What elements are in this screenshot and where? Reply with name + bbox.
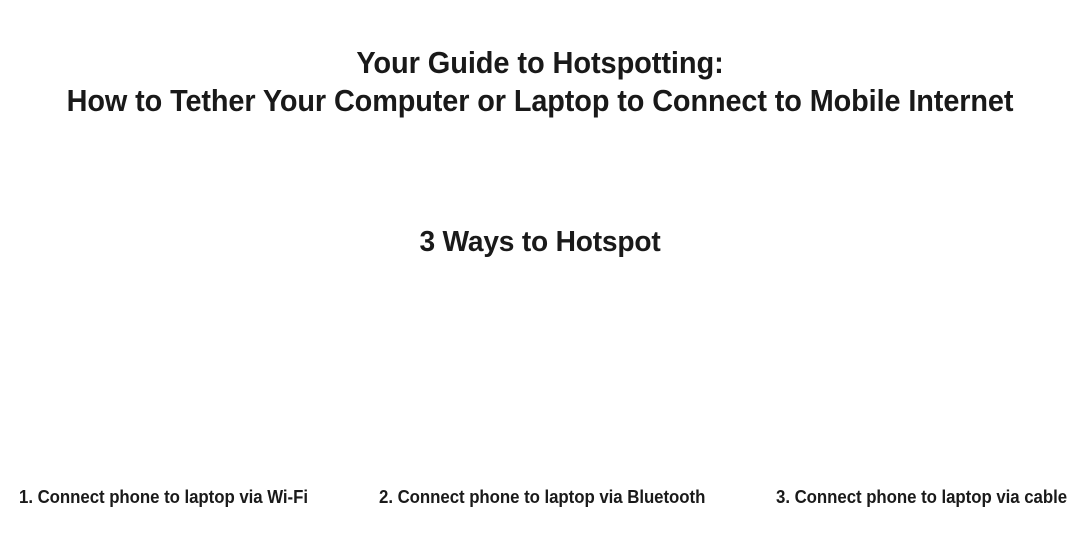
steps-media-row [0, 280, 1080, 480]
step-image-3 [720, 280, 1080, 480]
step-media-1 [0, 280, 360, 480]
page-title-line-1: Your Guide to Hotspotting: [35, 44, 1045, 82]
article-page: Your Guide to Hotspotting: How to Tether… [0, 0, 1080, 552]
step-caption-2: 2. Connect phone to laptop via Bluetooth [379, 485, 705, 509]
step-image-1 [0, 280, 360, 480]
step-captions-row: 1. Connect phone to laptop via Wi-Fi 2. … [0, 485, 1080, 513]
step-image-2 [360, 280, 720, 480]
step-media-3 [720, 280, 1080, 480]
step-media-2 [360, 280, 720, 480]
step-caption-1: 1. Connect phone to laptop via Wi-Fi [19, 485, 308, 509]
section-heading-3-ways-to-hotspot: 3 Ways to Hotspot [16, 224, 1064, 260]
step-caption-3: 3. Connect phone to laptop via cable [776, 485, 1067, 509]
page-title-line-2: How to Tether Your Computer or Laptop to… [38, 82, 1042, 120]
page-title: Your Guide to Hotspotting: How to Tether… [0, 44, 1080, 120]
